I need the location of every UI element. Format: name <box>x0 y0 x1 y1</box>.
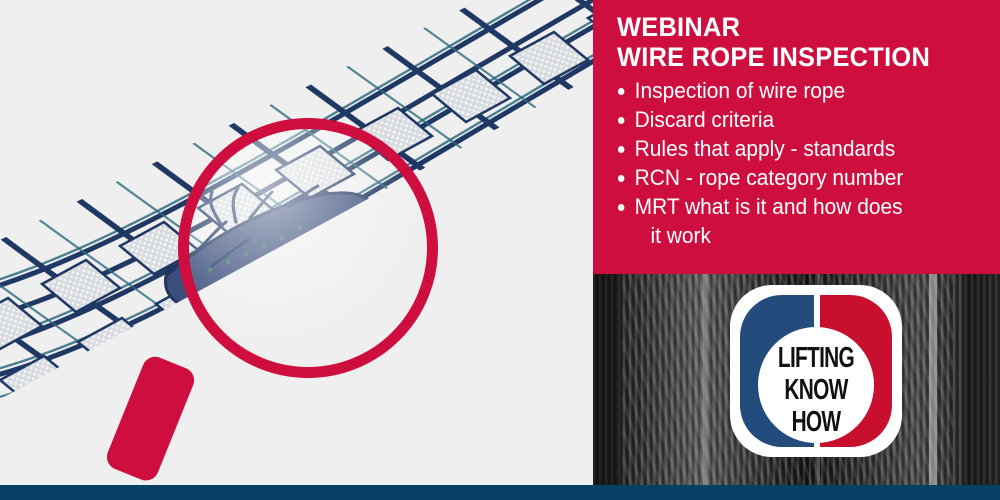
list-item: Inspection of wire rope <box>617 76 968 105</box>
list-item: Rules that apply - standards <box>617 134 968 163</box>
magnifying-glass-icon <box>178 118 438 378</box>
webinar-topic-list: Inspection of wire rope Discard criteria… <box>617 76 994 250</box>
lifting-know-how-logo-svg: LIFTING KNOW HOW <box>728 283 904 459</box>
list-item-continuation: it work <box>617 221 968 250</box>
list-item-label: Inspection of wire rope <box>635 78 846 103</box>
list-item: MRT what is it and how does <box>617 192 968 221</box>
list-item: RCN - rope category number <box>617 163 968 192</box>
webinar-info-panel: WEBINAR WIRE ROPE INSPECTION Inspection … <box>593 0 1000 274</box>
svg-text:HOW: HOW <box>792 406 842 438</box>
panel-heading-topic: WIRE ROPE INSPECTION <box>617 42 971 72</box>
list-item-label: Discard criteria <box>635 107 775 132</box>
bullet-dot-icon <box>618 117 625 124</box>
list-item-label: it work <box>650 223 710 248</box>
svg-text:LIFTING: LIFTING <box>778 342 854 374</box>
banner-canvas: WEBINAR WIRE ROPE INSPECTION Inspection … <box>0 0 1000 500</box>
list-item-label: RCN - rope category number <box>635 165 904 190</box>
navy-footer-bar <box>0 485 1000 500</box>
list-item: Discard criteria <box>617 105 968 134</box>
panel-heading-webinar: WEBINAR <box>617 12 971 42</box>
list-item-label: Rules that apply - standards <box>635 136 896 161</box>
bullet-dot-icon <box>618 204 625 211</box>
lifting-know-how-logo: LIFTING KNOW HOW <box>728 283 904 459</box>
magnifying-glass-lens <box>178 118 438 378</box>
list-item-label: MRT what is it and how does <box>635 194 903 219</box>
bullet-dot-icon <box>618 88 625 95</box>
svg-text:KNOW: KNOW <box>784 374 848 406</box>
bullet-dot-icon <box>618 146 625 153</box>
bullet-dot-icon <box>618 175 625 182</box>
